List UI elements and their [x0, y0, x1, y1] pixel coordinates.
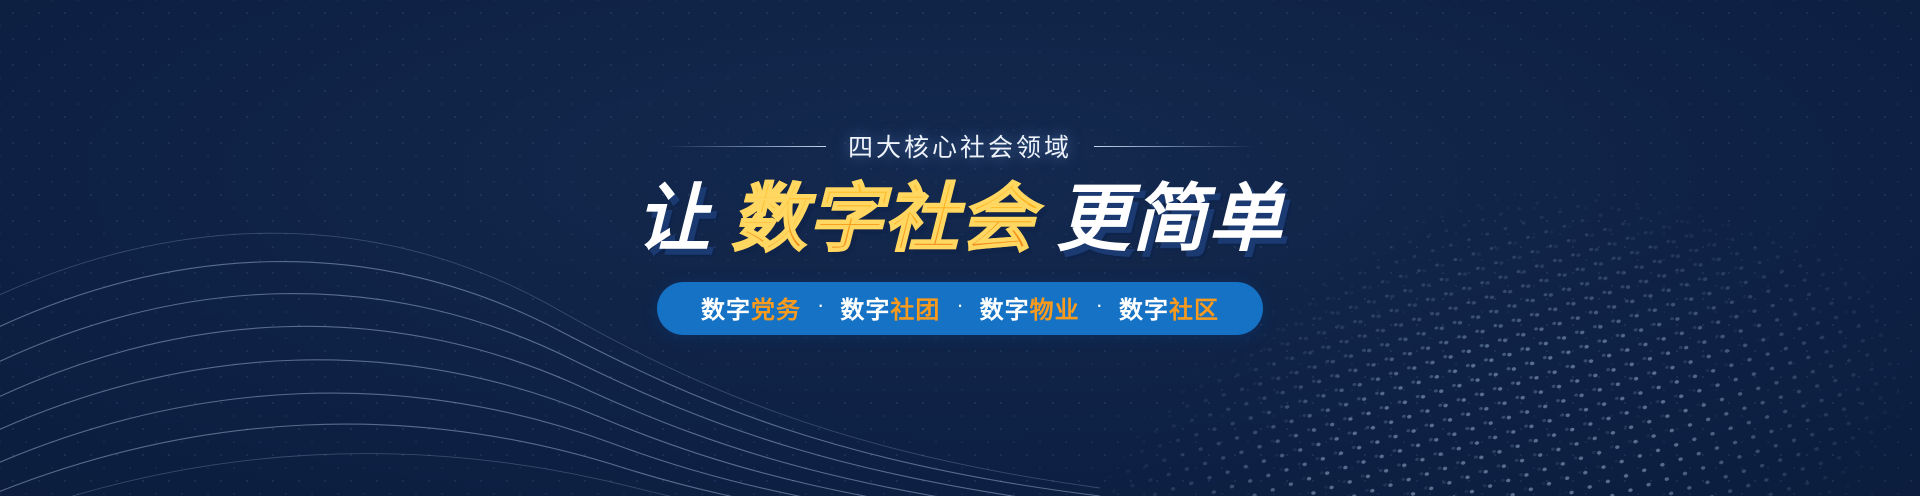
headline-segment-1: 让 [636, 180, 712, 258]
pill-item-2-suffix: 社团 [890, 297, 940, 324]
eyebrow-text: 四大核心社会领域 [848, 128, 1072, 164]
hero-banner: 四大核心社会领域 让 数字社会 更简单 数字党务 · 数字社团 · 数字物业 · [0, 0, 1920, 496]
headline: 让 数字社会 更简单 [636, 180, 1284, 258]
pill-item-2[interactable]: 数字社团 [840, 290, 940, 325]
pill-item-2-prefix: 数字 [840, 297, 890, 324]
pill-item-1[interactable]: 数字党务 [701, 290, 801, 325]
headline-segment-3: 更简单 [1056, 180, 1284, 258]
pill-separator-2: · [940, 292, 979, 318]
pill-item-4[interactable]: 数字社区 [1119, 290, 1219, 325]
pill-item-1-suffix: 党务 [751, 297, 801, 324]
pill-item-4-prefix: 数字 [1119, 297, 1169, 324]
banner-content: 四大核心社会领域 让 数字社会 更简单 数字党务 · 数字社团 · 数字物业 · [0, 128, 1920, 335]
left-rule-icon [666, 146, 826, 147]
pill-item-3-prefix: 数字 [980, 297, 1030, 324]
pill-item-3-suffix: 物业 [1030, 297, 1080, 324]
pill-separator-1: · [801, 292, 840, 318]
pill-item-4-suffix: 社区 [1169, 297, 1219, 324]
right-rule-icon [1094, 146, 1254, 147]
eyebrow: 四大核心社会领域 [666, 128, 1254, 164]
pill-separator-3: · [1080, 292, 1119, 318]
pill-item-1-prefix: 数字 [701, 297, 751, 324]
pill-item-3[interactable]: 数字物业 [980, 290, 1080, 325]
headline-segment-2: 数字社会 [728, 180, 1040, 258]
feature-pill[interactable]: 数字党务 · 数字社团 · 数字物业 · 数字社区 [657, 282, 1263, 335]
